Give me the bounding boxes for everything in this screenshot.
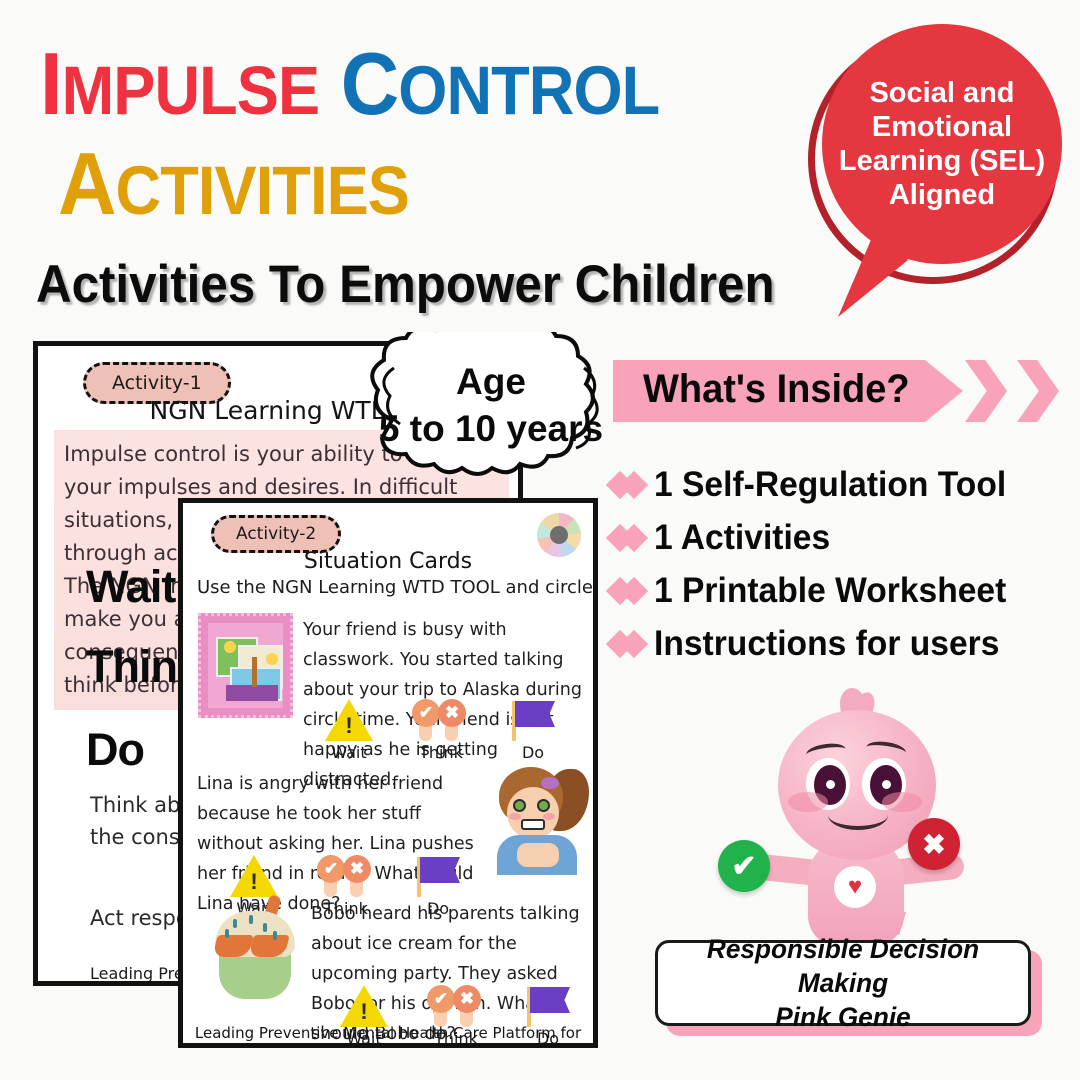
sel-badge-circle: Social and Emotional Learning (SEL) Alig… xyxy=(822,24,1062,264)
cross-icon: ✖ xyxy=(453,985,481,1013)
ice-cream-chip xyxy=(263,923,267,932)
check-icon: ✔ xyxy=(317,855,345,883)
diamond-bullet-icon xyxy=(608,472,654,498)
diamond-bullet-icon xyxy=(608,578,654,604)
chevron-right-icon-1 xyxy=(965,360,1007,422)
scene-1-wait-option[interactable]: Wait xyxy=(318,699,380,762)
list-item: 1 Activities xyxy=(608,511,1078,564)
scene-1-do-label: Do xyxy=(502,743,564,762)
diamond-bullet-icon xyxy=(608,525,654,551)
sel-aligned-badge: Social and Emotional Learning (SEL) Alig… xyxy=(800,22,1065,322)
think-check-cross-icon: ✔ ✖ xyxy=(315,855,377,897)
genie-eye-highlight-left xyxy=(826,780,835,789)
age-range-text: Age 5 to 10 years xyxy=(352,358,630,452)
ice-cream-image xyxy=(201,893,311,1003)
ice-cream-chip xyxy=(225,929,229,938)
cross-icon: ✖ xyxy=(343,855,371,883)
girl-hands xyxy=(517,843,559,867)
list-item-label: 1 Self-Regulation Tool xyxy=(654,465,1006,505)
header: IMPULSE CONTROL ACTIVITIES Activities To… xyxy=(0,0,1080,330)
green-check-icon: ✔ xyxy=(718,840,770,892)
cross-icon: ✖ xyxy=(438,699,466,727)
girl-hair-bow xyxy=(541,777,559,789)
photo-purple-band xyxy=(226,685,278,701)
title-word-activities-cap: A xyxy=(58,134,116,233)
angry-girl-image xyxy=(483,765,593,875)
genie-eye-highlight-right xyxy=(882,780,891,789)
warning-triangle-icon xyxy=(230,855,278,897)
title-word-impulse-cap: I xyxy=(40,34,62,133)
vacation-photos-image xyxy=(198,613,293,718)
genie-label-box: Responsible Decision Making Pink Genie xyxy=(655,940,1031,1026)
scene-1-wait-label: Wait xyxy=(318,743,380,762)
girl-gritted-teeth xyxy=(521,819,545,830)
think-check-cross-icon: ✔ ✖ xyxy=(425,985,487,1027)
ice-cream-chip xyxy=(273,931,277,940)
flag-icon xyxy=(517,985,579,1027)
heart-icon: ♥ xyxy=(834,866,876,908)
ngn-wheel-logo-center xyxy=(550,526,568,544)
worksheet2-title: Situation Cards xyxy=(183,549,593,574)
check-icon: ✔ xyxy=(412,699,440,727)
age-range-bubble: Age 5 to 10 years xyxy=(352,332,630,494)
girl-eye-right xyxy=(537,799,550,812)
ice-cream-chip xyxy=(233,919,237,928)
genie-blush-left xyxy=(788,792,828,812)
page-title-line1: IMPULSE CONTROL xyxy=(40,40,659,135)
girl-blush-right xyxy=(543,813,555,820)
genie-label-text: Responsible Decision Making Pink Genie xyxy=(664,932,1023,1034)
worksheet1-do-label: Do xyxy=(86,724,144,776)
warning-triangle-icon xyxy=(340,985,388,1027)
page-title-line2: ACTIVITIES xyxy=(58,140,409,235)
pink-genie-character: ♥ ✔ ✖ xyxy=(710,688,1000,938)
genie-blush-right xyxy=(882,792,922,812)
worksheet-preview-activity-2[interactable]: Activity-2 Situation Cards Use the NGN L… xyxy=(178,498,598,1048)
genie-smile xyxy=(828,800,888,830)
page-subtitle: Activities To Empower Children xyxy=(36,255,775,315)
flag-cloth xyxy=(530,987,570,1013)
list-item: 1 Printable Worksheet xyxy=(608,564,1078,617)
worksheet2-footer: Leading Preventive Mental Health Care Pl… xyxy=(183,1024,593,1048)
whats-inside-list: 1 Self-Regulation Tool 1 Activities 1 Pr… xyxy=(608,458,1078,670)
girl-blush-left xyxy=(509,813,521,820)
vacation-photos-inner xyxy=(208,623,283,708)
sel-badge-text: Social and Emotional Learning (SEL) Alig… xyxy=(839,76,1045,212)
warning-triangle-icon xyxy=(325,699,373,741)
think-check-cross-icon: ✔ ✖ xyxy=(410,699,472,741)
list-item: Instructions for users xyxy=(608,617,1078,670)
flag-cloth xyxy=(420,857,460,883)
sun-icon-1 xyxy=(224,641,236,653)
title-word-control-cap: C xyxy=(341,34,399,133)
list-item-label: 1 Activities xyxy=(654,518,830,558)
girl-eye-left xyxy=(513,799,526,812)
flag-icon xyxy=(407,855,469,897)
whats-inside-banner: What's Inside? xyxy=(613,360,963,422)
red-cross-icon: ✖ xyxy=(908,818,960,870)
list-item-label: Instructions for users xyxy=(654,624,999,664)
scene-1-think-label: Think xyxy=(410,743,472,762)
list-item: 1 Self-Regulation Tool xyxy=(608,458,1078,511)
activity-2-pill: Activity-2 xyxy=(211,515,341,553)
scene-1-do-option[interactable]: Do xyxy=(502,699,564,762)
scene-1-wtd-row[interactable]: Wait ✔ ✖ Think Do xyxy=(318,699,564,762)
palm-trunk-icon xyxy=(252,657,257,687)
diamond-bullet-icon xyxy=(608,631,654,657)
list-item-label: 1 Printable Worksheet xyxy=(654,571,1006,611)
chevron-right-icon-2 xyxy=(1017,360,1059,422)
scene-1-think-option[interactable]: ✔ ✖ Think xyxy=(410,699,472,762)
flag-icon xyxy=(502,699,564,741)
title-word-control-rest: ONTROL xyxy=(398,52,659,129)
sun-icon-2 xyxy=(266,653,278,665)
title-word-impulse-rest: MPULSE xyxy=(62,52,320,129)
whats-inside-title: What's Inside? xyxy=(643,367,910,412)
flag-cloth xyxy=(515,701,555,727)
title-word-activities-rest: CTIVITIES xyxy=(116,152,409,229)
worksheet1-wait-label: Wait xyxy=(86,561,175,613)
worksheet2-instruction: Use the NGN Learning WTD TOOL and circle… xyxy=(197,577,598,598)
ice-cream-chip xyxy=(249,915,253,924)
check-icon: ✔ xyxy=(427,985,455,1013)
